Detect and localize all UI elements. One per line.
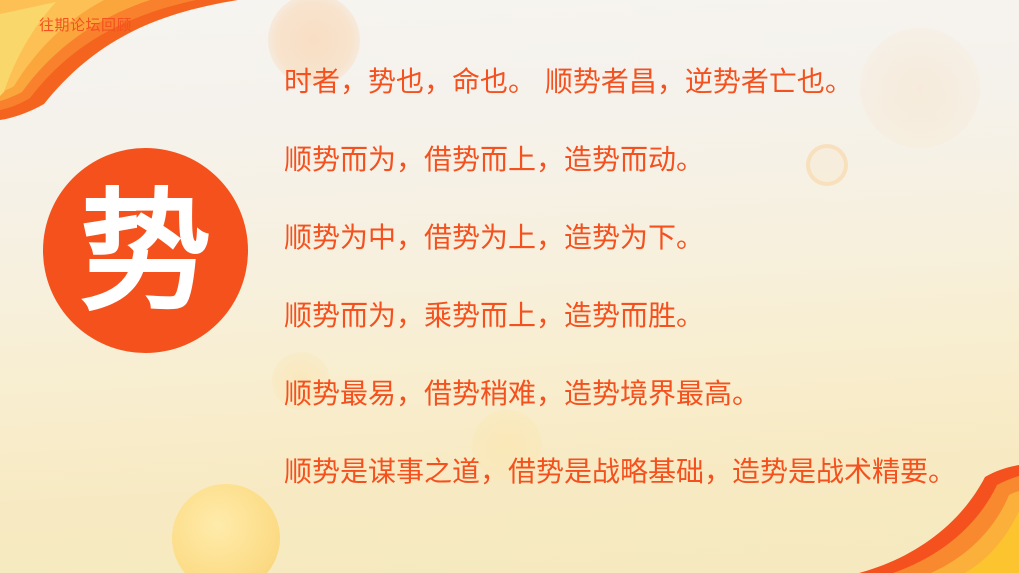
quote-line: 顺势而为，乘势而上，造势而胜。 [284,302,1008,330]
logo-medallion: 势 [43,148,248,353]
quote-line: 时者，势也，命也。 顺势者昌，逆势者亡也。 [284,68,1008,96]
quote-line: 顺势最易，借势稍难，造势境界最高。 [284,380,1008,408]
slide-section-label: 往期论坛回顾 [39,14,132,35]
bubble-decoration-bottom-left [172,484,280,573]
quote-line: 顺势为中，借势为上，造势为下。 [284,224,1008,252]
presentation-slide: 往期论坛回顾 势 时者，势也，命也。 顺势者昌，逆势者亡也。 顺势而为，借势而上… [0,0,1019,573]
quote-line: 顺势而为，借势而上，造势而动。 [284,146,1008,174]
logo-character-shi: 势 [80,187,212,319]
quote-list: 时者，势也，命也。 顺势者昌，逆势者亡也。 顺势而为，借势而上，造势而动。 顺势… [284,68,1008,486]
quote-line: 顺势是谋事之道，借势是战略基础，造势是战术精要。 [284,458,1008,486]
